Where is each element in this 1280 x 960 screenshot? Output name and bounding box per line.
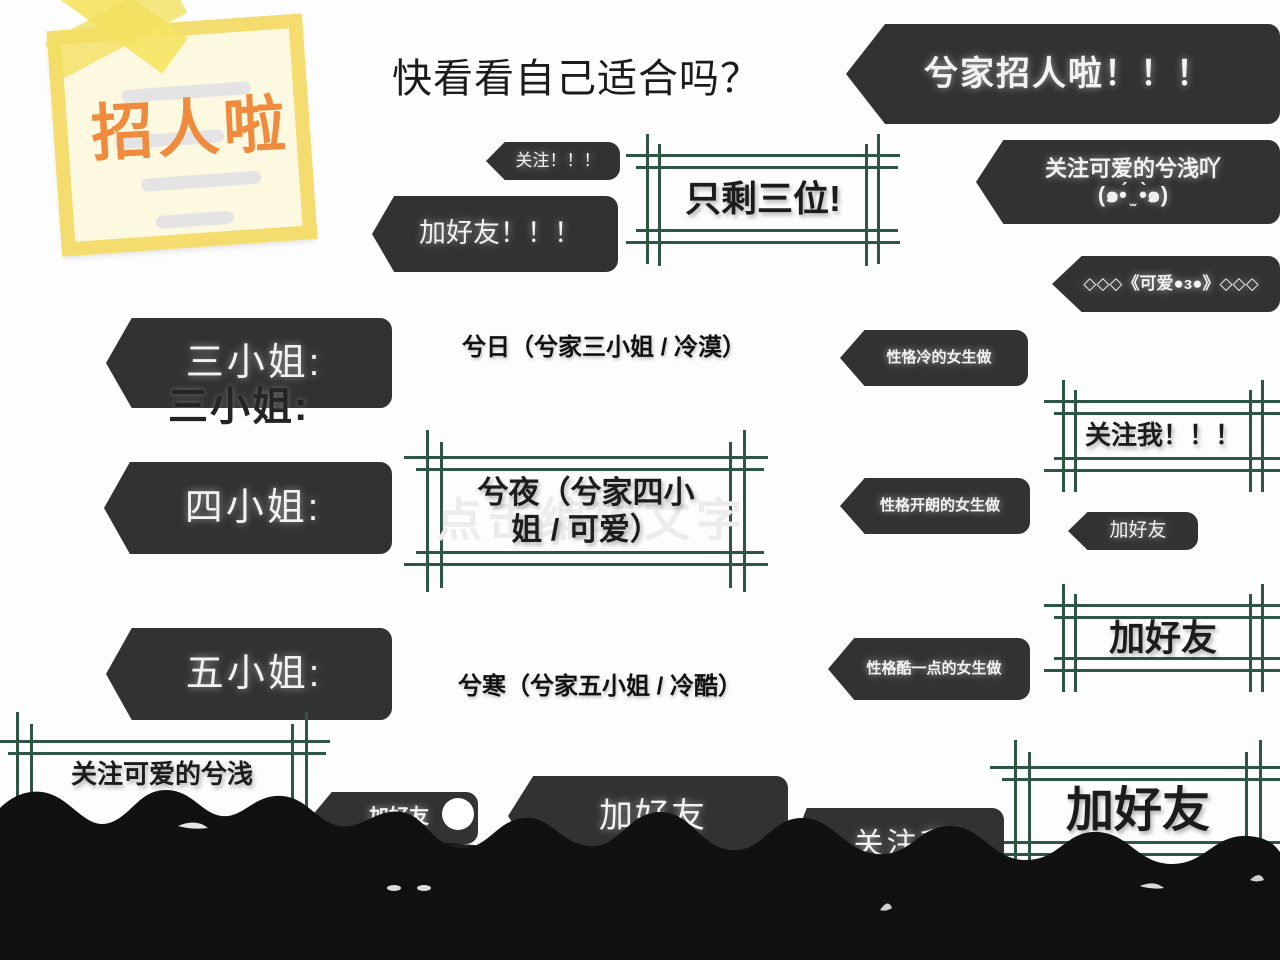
- sticky-note: 招人啦: [40, 2, 340, 272]
- frame-only-three-left: 只剩三位!: [634, 140, 892, 258]
- frame-text-only-three-left: 只剩三位!: [634, 140, 892, 258]
- note-ruled-line: [156, 211, 235, 229]
- frame-text-follow-me: 关注我！！！: [1052, 388, 1274, 484]
- poster-canvas: 招人啦 快看看自己适合吗？ 兮家招人啦！！！ 关注可爱的兮浅吖 (๑•́ ̫ •…: [0, 0, 1280, 960]
- frame-add-friend: 加好友: [1052, 592, 1274, 684]
- banner-follow-cute[interactable]: 关注可爱的兮浅吖 (๑•́ ̫ •̀๑): [976, 140, 1280, 224]
- note-title: 招人啦: [48, 71, 332, 176]
- banner-trait-cheerful[interactable]: 性格开朗的女生做: [840, 478, 1030, 534]
- frame-text-miss-four-detail: 兮夜（兮家四小 姐 / 可爱）: [414, 440, 758, 582]
- banner-miss-four[interactable]: 四小姐:: [104, 462, 392, 554]
- banner-cute-decor[interactable]: ◇◇◇《可爱●з●》◇◇◇: [1052, 256, 1280, 312]
- banner-recruit-main[interactable]: 兮家招人啦！！！: [846, 24, 1280, 124]
- caption-miss-five-detail: 兮寒（兮家五小姐 / 冷酷）: [414, 672, 786, 702]
- caption-miss-three-detail: 兮日（兮家三小姐 / 冷漠）: [424, 333, 784, 363]
- banner-miss-five[interactable]: 五小姐:: [106, 628, 392, 720]
- banner-follow-short[interactable]: 关注！！！: [486, 142, 620, 180]
- frame-text-add-friend: 加好友: [1052, 592, 1274, 684]
- frame-follow-me: 关注我！！！: [1052, 388, 1274, 484]
- banner-trait-cool[interactable]: 性格酷一点的女生做: [828, 638, 1030, 700]
- ghost-text-miss-three: 三小姐:: [168, 374, 309, 432]
- banner-add-friend-excl[interactable]: 加好友！！！: [372, 196, 618, 272]
- banner-add-friend-right[interactable]: 加好友: [1068, 512, 1198, 550]
- frame-miss-four-detail: 点击编辑文字 兮夜（兮家四小 姐 / 可爱）: [414, 440, 758, 582]
- page-title: 快看看自己适合吗？: [392, 46, 761, 104]
- bottom-brush-silhouette: [0, 760, 1280, 960]
- note-ruled-line: [141, 171, 262, 192]
- banner-trait-cold[interactable]: 性恪冷的女生做: [840, 330, 1028, 386]
